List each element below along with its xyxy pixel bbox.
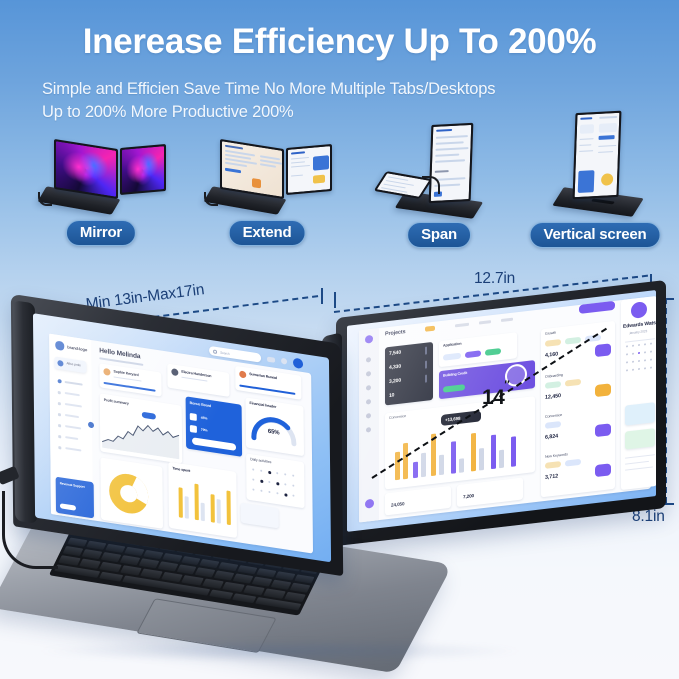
usb-c-cable-icon bbox=[2, 491, 58, 569]
mode-badge-span[interactable]: Span bbox=[407, 222, 471, 248]
monitor-vertical-icon bbox=[530, 112, 660, 222]
monitor-display: Projects 7,540 4,330 3,200 10 bbox=[347, 290, 656, 532]
subtitle-line-1: Simple and Efficien Save Time No More Mu… bbox=[42, 80, 642, 99]
phone-monitor-span-icon bbox=[378, 122, 500, 222]
page-title: Inerease Efficiency Up To 200% bbox=[0, 22, 679, 62]
ground-shadow bbox=[40, 640, 520, 662]
mode-badge-vertical-screen[interactable]: Vertical screen bbox=[530, 222, 661, 248]
laptop-display: brand-logo Alliss prole bbox=[33, 313, 331, 562]
diagonal-value: 14 bbox=[482, 386, 504, 409]
hero-device-assembly: Projects 7,540 4,330 3,200 10 bbox=[0, 295, 679, 679]
mode-item-extend: Extend bbox=[202, 140, 332, 248]
mode-item-span: Span bbox=[378, 122, 500, 248]
dimension-monitor-width: 12.7in bbox=[474, 270, 515, 288]
monitor-dashboard-ui: Projects 7,540 4,330 3,200 10 bbox=[347, 290, 656, 532]
laptop-dual-mirror-icon bbox=[36, 140, 166, 218]
mode-badge-extend[interactable]: Extend bbox=[229, 220, 306, 246]
laptop-dashboard-ui: brand-logo Alliss prole bbox=[33, 313, 331, 562]
product-banner: Inerease Efficiency Up To 200% Simple an… bbox=[0, 0, 679, 679]
diagonal-unit: ″ bbox=[504, 379, 509, 391]
monitor-stat-3: 10 bbox=[389, 392, 394, 399]
mode-item-mirror: Mirror bbox=[36, 140, 166, 248]
portable-monitor: Projects 7,540 4,330 3,200 10 bbox=[336, 280, 666, 546]
mode-item-vertical-screen: Vertical screen bbox=[530, 112, 660, 248]
mode-badge-mirror[interactable]: Mirror bbox=[66, 220, 136, 246]
dimension-monitor-diagonal: 14″ bbox=[482, 386, 509, 410]
laptop-dual-extend-icon bbox=[202, 140, 332, 218]
donut-chart bbox=[108, 471, 148, 517]
